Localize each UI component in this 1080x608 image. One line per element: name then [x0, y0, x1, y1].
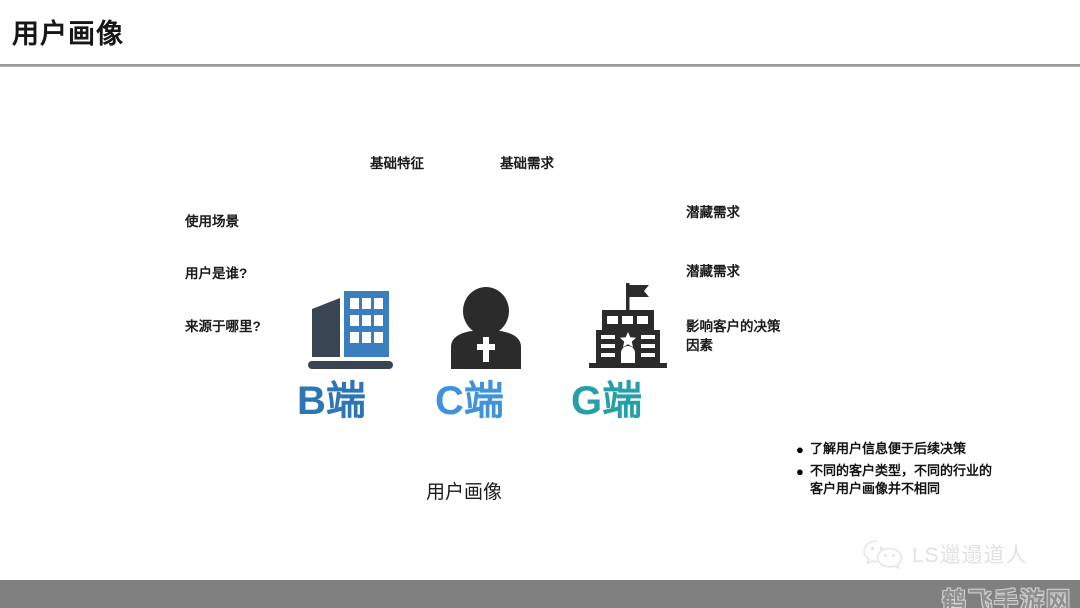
label-usage-scenario: 使用场景: [185, 212, 239, 231]
site-watermark: 鹤飞手游网: [942, 581, 1072, 608]
list-item: ● 不同的客户类型，不同的行业的 客户用户画像并不相同: [796, 462, 1058, 498]
label-hidden-needs-2: 潜藏需求: [686, 262, 740, 281]
bullet-list: ● 了解用户信息便于后续决策 ● 不同的客户类型，不同的行业的 客户用户画像并不…: [796, 440, 1058, 501]
wechat-icon: [862, 538, 904, 570]
figure-caption: 用户画像: [426, 477, 502, 504]
wechat-account-name: LS邋遢道人: [912, 539, 1028, 569]
bullet-text: 了解用户信息便于后续决策: [810, 440, 966, 458]
endpoint-label-c-end: C端: [435, 378, 504, 424]
label-where-from: 来源于哪里?: [185, 317, 261, 336]
slide-canvas: 用户画像 基础特征 基础需求 使用场景 用户是谁? 来源于哪里? 潜藏需求 潜藏…: [0, 0, 1080, 608]
government-building-icon: [574, 277, 684, 367]
wechat-watermark: LS邋遢道人: [862, 538, 1028, 570]
endpoint-label-b-end: B端: [297, 378, 366, 424]
label-basic-traits: 基础特征: [370, 154, 424, 173]
page-title: 用户画像: [12, 12, 124, 51]
bullet-text: 不同的客户类型，不同的行业的 客户用户画像并不相同: [810, 462, 992, 498]
label-decision-factors: 影响客户的决策 因素: [686, 317, 781, 355]
person-user-icon: [434, 285, 544, 375]
list-item: ● 了解用户信息便于后续决策: [796, 440, 1058, 459]
label-hidden-needs-1: 潜藏需求: [686, 203, 740, 222]
endpoint-label-g-end: G端: [571, 378, 642, 424]
bullet-dot-icon: ●: [796, 462, 810, 481]
footer-bar: [0, 580, 1080, 608]
label-basic-needs: 基础需求: [500, 154, 554, 173]
office-building-icon: [300, 285, 410, 375]
title-divider: [0, 64, 1080, 67]
label-who-is-user: 用户是谁?: [185, 264, 247, 283]
bullet-dot-icon: ●: [796, 440, 810, 459]
